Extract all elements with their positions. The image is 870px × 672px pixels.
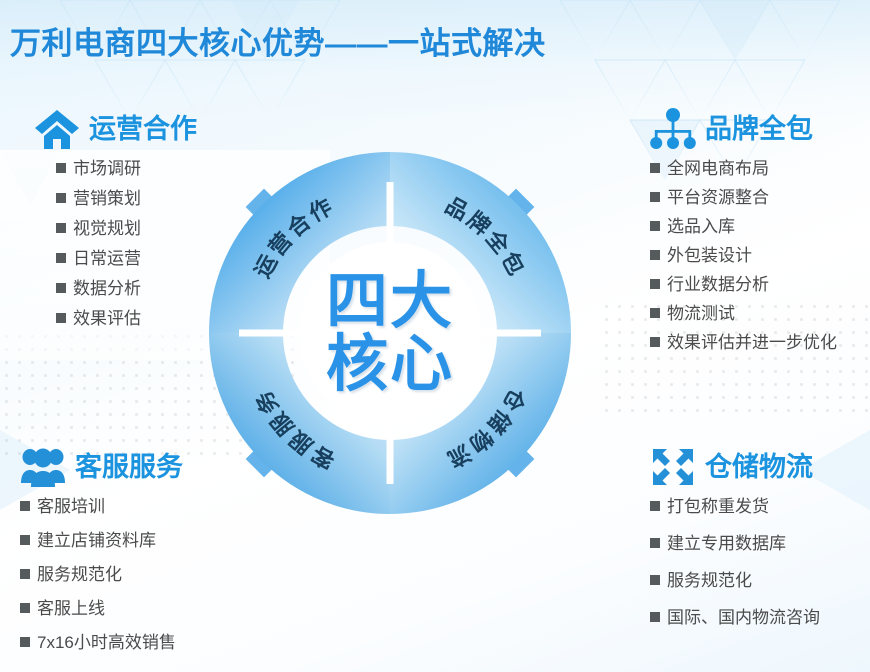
quadrant-logistics-title: 仓储物流 bbox=[705, 454, 813, 481]
square-bullet-icon bbox=[650, 612, 660, 622]
list-item: 服务规范化 bbox=[650, 572, 820, 589]
quadrant-logistics-list: 打包称重发货 建立专用数据库 服务规范化 国际、国内物流咨询 bbox=[650, 498, 820, 626]
list-item: 选品入库 bbox=[650, 218, 837, 235]
list-item-label: 建立专用数据库 bbox=[667, 535, 786, 552]
people-group-icon bbox=[20, 446, 66, 488]
square-bullet-icon bbox=[650, 308, 660, 318]
list-item: 数据分析 bbox=[34, 280, 197, 297]
quadrant-operation-list: 市场调研 营销策划 视觉规划 日常运营 数据分析 效果评估 bbox=[34, 160, 197, 327]
square-bullet-icon bbox=[650, 575, 660, 585]
list-item-label: 视觉规划 bbox=[73, 220, 141, 237]
quadrant-operation-title: 运营合作 bbox=[89, 116, 197, 143]
square-bullet-icon bbox=[56, 193, 66, 203]
list-item-label: 数据分析 bbox=[73, 280, 141, 297]
quadrant-brand-header: 品牌全包 bbox=[650, 108, 837, 150]
quadrant-operation: 运营合作 市场调研 营销策划 视觉规划 日常运营 数据分析 效果评估 bbox=[34, 108, 197, 340]
quadrant-logistics: 仓储物流 打包称重发货 建立专用数据库 服务规范化 国际、国内物流咨询 bbox=[650, 446, 820, 646]
square-bullet-icon bbox=[650, 192, 660, 202]
list-item-label: 外包装设计 bbox=[667, 247, 752, 264]
four-way-arrows-icon bbox=[650, 446, 696, 488]
list-item-label: 行业数据分析 bbox=[667, 276, 769, 293]
list-item-label: 打包称重发货 bbox=[667, 498, 769, 515]
list-item: 营销策划 bbox=[34, 190, 197, 207]
org-chart-icon bbox=[650, 108, 696, 150]
square-bullet-icon bbox=[650, 538, 660, 548]
list-item: 服务规范化 bbox=[20, 566, 183, 583]
square-bullet-icon bbox=[20, 501, 30, 511]
quadrant-service-header: 客服服务 bbox=[20, 446, 183, 488]
quadrant-operation-header: 运营合作 bbox=[34, 108, 197, 150]
square-bullet-icon bbox=[56, 223, 66, 233]
square-bullet-icon bbox=[56, 283, 66, 293]
square-bullet-icon bbox=[650, 337, 660, 347]
square-bullet-icon bbox=[650, 221, 660, 231]
list-item-label: 效果评估 bbox=[73, 310, 141, 327]
quadrant-brand: 品牌全包 全网电商布局 平台资源整合 选品入库 外包装设计 行业数据分析 物流测… bbox=[650, 108, 837, 363]
square-bullet-icon bbox=[650, 250, 660, 260]
list-item: 建立店铺资料库 bbox=[20, 532, 183, 549]
quadrant-service-title: 客服服务 bbox=[75, 454, 183, 481]
list-item: 视觉规划 bbox=[34, 220, 197, 237]
quadrant-service: 客服服务 客服培训 建立店铺资料库 服务规范化 客服上线 7x16小时高效销售 bbox=[20, 446, 183, 668]
donut-diagram: 运营合作 品牌全包 仓储物流 客服服务 四大 核心 bbox=[205, 148, 575, 518]
list-item: 效果评估 bbox=[34, 310, 197, 327]
list-item-label: 服务规范化 bbox=[667, 572, 752, 589]
list-item: 日常运营 bbox=[34, 250, 197, 267]
list-item: 客服上线 bbox=[20, 600, 183, 617]
quadrant-logistics-header: 仓储物流 bbox=[650, 446, 820, 488]
list-item-label: 物流测试 bbox=[667, 305, 735, 322]
list-item: 物流测试 bbox=[650, 305, 837, 322]
list-item: 外包装设计 bbox=[650, 247, 837, 264]
list-item-label: 7x16小时高效销售 bbox=[37, 634, 176, 651]
page-title: 万利电商四大核心优势——一站式解决 bbox=[10, 18, 546, 63]
list-item: 国际、国内物流咨询 bbox=[650, 609, 820, 626]
square-bullet-icon bbox=[650, 501, 660, 511]
infographic-canvas: 万利电商四大核心优势——一站式解决 运营合作 市场调研 营销策划 视觉规划 日常… bbox=[0, 0, 870, 672]
square-bullet-icon bbox=[20, 603, 30, 613]
list-item-label: 平台资源整合 bbox=[667, 189, 769, 206]
list-item-label: 客服培训 bbox=[37, 498, 105, 515]
square-bullet-icon bbox=[56, 163, 66, 173]
list-item: 打包称重发货 bbox=[650, 498, 820, 515]
list-item: 市场调研 bbox=[34, 160, 197, 177]
square-bullet-icon bbox=[56, 253, 66, 263]
square-bullet-icon bbox=[20, 637, 30, 647]
list-item-label: 客服上线 bbox=[37, 600, 105, 617]
quadrant-service-list: 客服培训 建立店铺资料库 服务规范化 客服上线 7x16小时高效销售 bbox=[20, 498, 183, 651]
list-item: 客服培训 bbox=[20, 498, 183, 515]
list-item: 全网电商布局 bbox=[650, 160, 837, 177]
square-bullet-icon bbox=[20, 535, 30, 545]
quadrant-brand-title: 品牌全包 bbox=[705, 116, 813, 143]
quadrant-brand-list: 全网电商布局 平台资源整合 选品入库 外包装设计 行业数据分析 物流测试 效果评… bbox=[650, 160, 837, 351]
list-item-label: 营销策划 bbox=[73, 190, 141, 207]
list-item-label: 日常运营 bbox=[73, 250, 141, 267]
square-bullet-icon bbox=[20, 569, 30, 579]
list-item-label: 市场调研 bbox=[73, 160, 141, 177]
list-item-label: 效果评估并进一步优化 bbox=[667, 334, 837, 351]
list-item-label: 选品入库 bbox=[667, 218, 735, 235]
house-icon bbox=[34, 108, 80, 150]
list-item-label: 国际、国内物流咨询 bbox=[667, 609, 820, 626]
list-item-label: 全网电商布局 bbox=[667, 160, 769, 177]
list-item-label: 建立店铺资料库 bbox=[37, 532, 156, 549]
square-bullet-icon bbox=[650, 279, 660, 289]
list-item: 行业数据分析 bbox=[650, 276, 837, 293]
square-bullet-icon bbox=[56, 313, 66, 323]
list-item: 7x16小时高效销售 bbox=[20, 634, 183, 651]
list-item: 平台资源整合 bbox=[650, 189, 837, 206]
list-item: 建立专用数据库 bbox=[650, 535, 820, 552]
square-bullet-icon bbox=[650, 163, 660, 173]
list-item-label: 服务规范化 bbox=[37, 566, 122, 583]
list-item: 效果评估并进一步优化 bbox=[650, 334, 837, 351]
